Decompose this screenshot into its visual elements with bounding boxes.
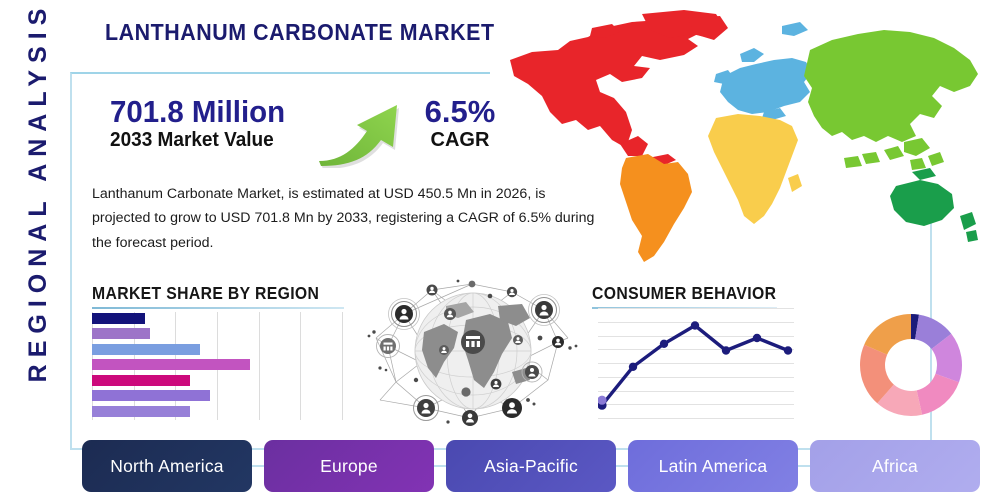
kpi-block: 701.8 Million 2033 Market Value 6.5% CAG…: [110, 94, 510, 166]
region-button-asia-pacific[interactable]: Asia-Pacific: [446, 440, 616, 492]
bar-fill: [92, 406, 190, 417]
bar-row[interactable]: [92, 406, 190, 417]
line-series: [598, 308, 794, 418]
bar-row[interactable]: [92, 390, 210, 401]
consumer-behavior-line-chart: [598, 308, 794, 418]
kpi-value: 701.8 Million: [110, 96, 285, 128]
bar-fill: [92, 375, 190, 386]
segment-donut-chart: [858, 312, 964, 418]
bar-row[interactable]: [92, 344, 200, 355]
section-rule-left: [92, 307, 344, 309]
growth-arrow-icon: [315, 90, 415, 168]
region-button-label: Africa: [872, 456, 918, 477]
line-gridline: [598, 418, 794, 419]
region-button-bar: North AmericaEuropeAsia-PacificLatin Ame…: [82, 440, 982, 492]
region-button-label: Europe: [320, 456, 378, 477]
region-connector: [434, 465, 446, 467]
region-connector: [798, 465, 810, 467]
line-marker[interactable]: [753, 334, 761, 342]
page-title: LANTHANUM CARBONATE MARKET: [105, 19, 495, 46]
bar-fill: [92, 313, 145, 324]
kpi-cagr-caption: CAGR: [410, 128, 510, 153]
bar-gridline: [259, 312, 260, 420]
kpi-market-value: 701.8 Million 2033 Market Value: [110, 96, 294, 153]
bar-fill: [92, 328, 150, 339]
line-marker[interactable]: [629, 363, 637, 371]
region-button-latin-america[interactable]: Latin America: [628, 440, 798, 492]
region-button-label: Asia-Pacific: [484, 456, 578, 477]
region-button-europe[interactable]: Europe: [264, 440, 434, 492]
bar-row[interactable]: [92, 375, 190, 386]
region-button-africa[interactable]: Africa: [810, 440, 980, 492]
line-marker[interactable]: [660, 340, 668, 348]
market-description: Lanthanum Carbonate Market, is estimated…: [92, 182, 604, 255]
bar-gridline: [300, 312, 301, 420]
region-button-label: Latin America: [659, 456, 768, 477]
donut-segments: [858, 312, 964, 418]
side-label-regional-analysis: REGIONAL ANALYSIS: [24, 0, 64, 392]
market-share-bar-chart: [92, 312, 342, 420]
region-connector: [252, 465, 264, 467]
region-button-north-america[interactable]: North America: [82, 440, 252, 492]
bar-fill: [92, 344, 200, 355]
region-connector: [616, 465, 628, 467]
bar-gridline: [342, 312, 343, 420]
line-marker[interactable]: [784, 346, 792, 354]
section-title-market-share: MARKET SHARE BY REGION: [92, 283, 319, 304]
kpi-value-caption: 2033 Market Value: [110, 128, 285, 153]
region-button-label: North America: [110, 456, 223, 477]
infographic-root: REGIONAL ANALYSIS LANTHANUM CARBONATE MA…: [0, 0, 1000, 500]
kpi-cagr-value: 6.5%: [410, 96, 510, 128]
bar-row[interactable]: [92, 328, 150, 339]
bar-fill: [92, 359, 250, 370]
bar-fill: [92, 390, 210, 401]
kpi-cagr: 6.5% CAGR: [410, 96, 510, 153]
bar-row[interactable]: [92, 359, 250, 370]
section-title-consumer-behavior: CONSUMER BEHAVIOR: [592, 283, 776, 304]
bar-row[interactable]: [92, 313, 145, 324]
line-marker[interactable]: [722, 346, 730, 354]
line-marker[interactable]: [691, 321, 699, 329]
globe-network-icon: [362, 276, 584, 426]
